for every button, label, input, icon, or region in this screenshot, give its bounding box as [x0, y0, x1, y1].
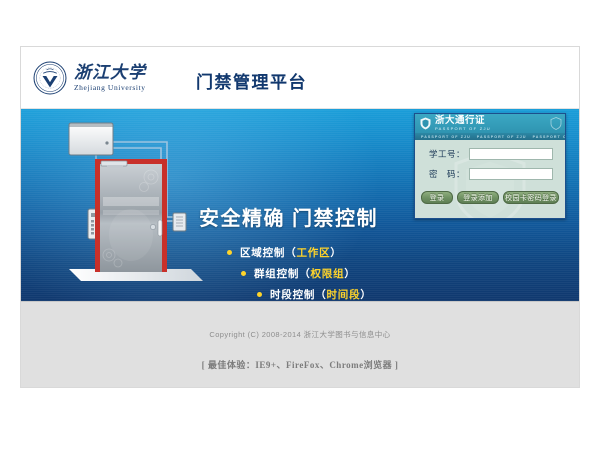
login-add-button[interactable]: 登录添加 [457, 191, 499, 204]
page-root: 浙江大学 Zhejiang University 门禁管理平台 [0, 0, 600, 450]
feature-bullet-timeslot: 时段控制（时间段） [257, 287, 434, 301]
site-header: 浙江大学 Zhejiang University 门禁管理平台 [21, 47, 579, 109]
logo-name-en: Zhejiang University [74, 84, 146, 92]
feature-bullet-group: 群组控制（权限组） [241, 266, 434, 281]
shield-icon [420, 117, 431, 130]
feature-bullet-area: 区域控制（工作区） [227, 245, 434, 260]
site-footer: Copyright (C) 2008-2014 浙江大学图书与信息中心 [ 最佳… [21, 301, 579, 388]
bullet-highlight: 时间段 [327, 287, 361, 301]
strip-text: PASSPORT OF ZJU [527, 135, 565, 139]
login-button[interactable]: 登录 [421, 191, 453, 204]
site-card: 浙江大学 Zhejiang University 门禁管理平台 [20, 46, 580, 388]
bullet-text: 时段控制（ [270, 287, 327, 301]
hero-banner: 安全精确 门禁控制 区域控制（工作区） 群组控制（权限组） 时段控制（时间段） [21, 109, 579, 301]
bullet-dot-icon [227, 250, 232, 255]
bullet-tail: ） [344, 266, 355, 281]
bullet-dot-icon [241, 271, 246, 276]
copyright-text: Copyright (C) 2008-2014 浙江大学图书与信息中心 [21, 329, 579, 340]
login-title-cn: 浙大通行证 [435, 116, 491, 126]
username-label: 学工号： [423, 148, 465, 160]
field-row-username: 学工号： [423, 148, 565, 160]
browser-note: [ 最佳体验：IE9+、FireFox、Chrome浏览器 ] [21, 358, 579, 371]
bullet-highlight: 权限组 [311, 266, 345, 281]
feature-bullet-list: 区域控制（工作区） 群组控制（权限组） 时段控制（时间段） [199, 245, 434, 301]
shield-watermark-icon [550, 117, 562, 130]
bullet-tail: ） [360, 287, 371, 301]
access-control-door-illustration [51, 117, 211, 299]
login-title-en: PASSPORT OF ZJU [435, 127, 491, 131]
username-input[interactable] [469, 148, 553, 160]
slogan-headline: 安全精确 门禁控制 [199, 202, 434, 231]
field-row-password: 密 码： [423, 168, 565, 180]
bullet-dot-icon [257, 292, 262, 297]
logo-name-cn: 浙江大学 [74, 64, 146, 81]
bullet-text: 群组控制（ [254, 266, 311, 281]
strip-text: PASSPORT OF ZJU [415, 135, 471, 139]
password-label: 密 码： [423, 168, 465, 180]
strip-text: PASSPORT OF ZJU [471, 135, 527, 139]
campus-card-password-login-button[interactable]: 校园卡密码登录 [503, 191, 559, 204]
page-title: 门禁管理平台 [196, 68, 307, 93]
login-panel: 浙大通行证 PASSPORT OF ZJU PASSPORT OF ZJU PA… [414, 113, 566, 219]
bullet-text: 区域控制（ [240, 245, 297, 260]
login-panel-header: 浙大通行证 PASSPORT OF ZJU [415, 114, 565, 133]
password-input[interactable] [469, 168, 553, 180]
passport-strip: PASSPORT OF ZJU PASSPORT OF ZJU PASSPORT… [415, 133, 565, 140]
bullet-tail: ） [330, 245, 341, 260]
university-logo[interactable]: 浙江大学 Zhejiang University [33, 61, 146, 95]
bullet-highlight: 工作区 [297, 245, 331, 260]
login-form: 学工号： 密 码： 登录 登录添加 校园卡密码登录 [415, 148, 565, 219]
zju-seal-icon [33, 61, 67, 95]
login-button-row: 登录 登录添加 校园卡密码登录 [421, 191, 565, 204]
slogan-block: 安全精确 门禁控制 区域控制（工作区） 群组控制（权限组） 时段控制（时间段） [199, 202, 434, 301]
logo-text-block: 浙江大学 Zhejiang University [74, 64, 146, 92]
